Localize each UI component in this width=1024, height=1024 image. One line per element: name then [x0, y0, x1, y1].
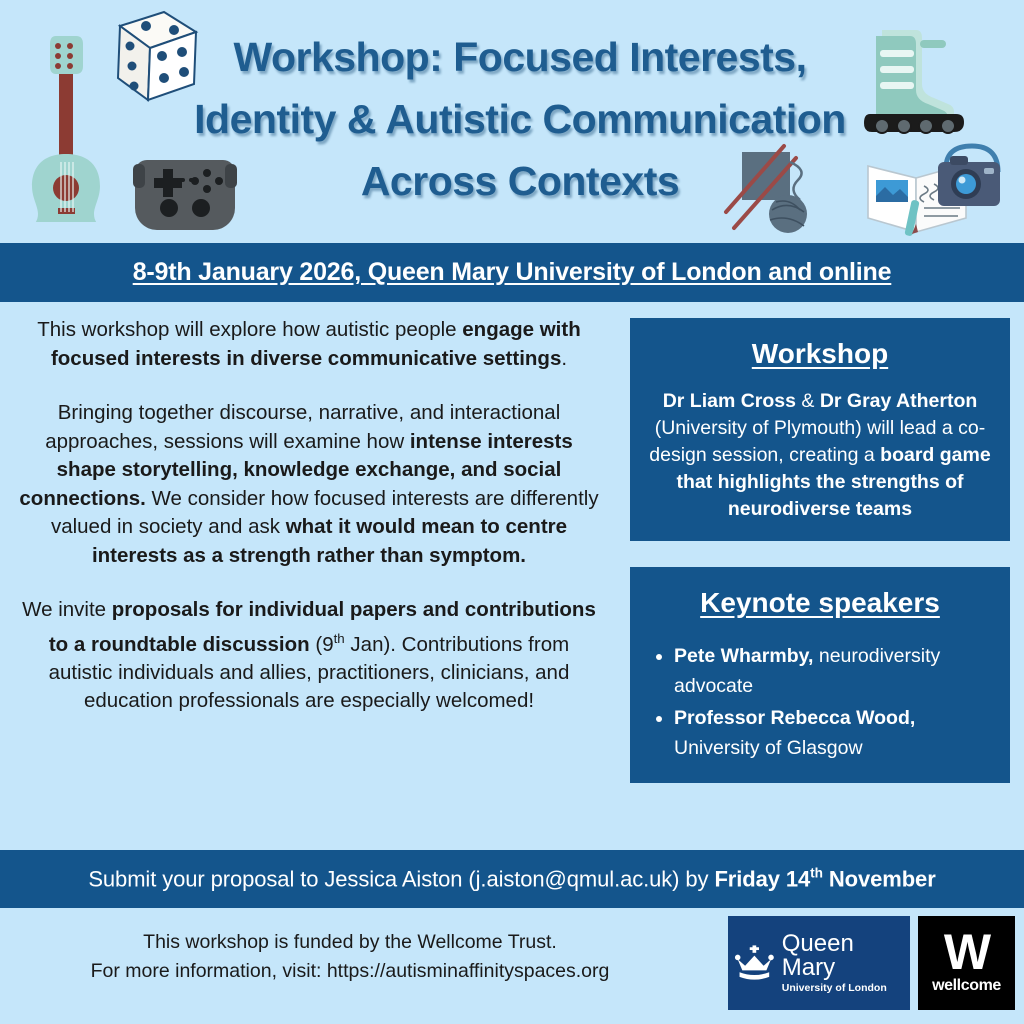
queen-mary-name: Queen Mary: [782, 932, 904, 980]
poster-title: Workshop: Focused Interests, Identity & …: [140, 26, 900, 212]
speaker-name: Professor Rebecca Wood,: [674, 707, 915, 729]
list-item: Pete Wharmby, neurodiversity advocate: [674, 641, 994, 701]
funding-note: This workshop is funded by the Wellcome …: [40, 928, 660, 986]
crown-icon: [734, 943, 775, 983]
funding-line-1: This workshop is funded by the Wellcome …: [40, 928, 660, 957]
wellcome-w-mark: W: [944, 932, 989, 973]
list-item: Professor Rebecca Wood, University of Gl…: [674, 703, 994, 763]
poster-footer: This workshop is funded by the Wellcome …: [0, 908, 1024, 1024]
logo-row: Queen Mary University of London W wellco…: [728, 916, 1015, 1010]
date-venue-text: 8-9th January 2026, Queen Mary Universit…: [133, 258, 892, 287]
poster-header: Workshop: Focused Interests, Identity & …: [0, 0, 1024, 243]
paragraph-scope: Bringing together discourse, narrative, …: [16, 399, 602, 570]
poster-main: This workshop will explore how autistic …: [0, 302, 1024, 850]
keynote-speaker-list: Pete Wharmby, neurodiversity advocate Pr…: [646, 641, 994, 763]
queen-mary-subtitle: University of London: [782, 983, 904, 994]
camera-icon: [928, 138, 1018, 218]
title-line-2: Identity & Autistic Communication: [140, 88, 900, 150]
title-line-1: Workshop: Focused Interests,: [140, 26, 900, 88]
workshop-box-title: Workshop: [646, 338, 994, 370]
paragraph-intro: This workshop will explore how autistic …: [16, 316, 602, 373]
wellcome-logo: W wellcome: [918, 916, 1015, 1010]
submission-banner: Submit your proposal to Jessica Aiston (…: [0, 850, 1024, 908]
keynote-box: Keynote speakers Pete Wharmby, neurodive…: [630, 567, 1010, 783]
workshop-box-body: Dr Liam Cross & Dr Gray Atherton (Univer…: [646, 388, 994, 523]
date-venue-banner: 8-9th January 2026, Queen Mary Universit…: [0, 243, 1024, 302]
wellcome-wordmark: wellcome: [932, 977, 1001, 995]
submission-text: Submit your proposal to Jessica Aiston (…: [88, 866, 935, 892]
info-column: Workshop Dr Liam Cross & Dr Gray Atherto…: [618, 302, 1024, 850]
speaker-name: Pete Wharmby,: [674, 645, 813, 667]
speaker-affiliation: University of Glasgow: [674, 737, 863, 759]
paragraph-call-for-papers: We invite proposals for individual paper…: [16, 596, 602, 716]
queen-mary-wordmark: Queen Mary University of London: [782, 932, 904, 994]
title-line-3: Across Contexts: [140, 150, 900, 212]
workshop-box: Workshop Dr Liam Cross & Dr Gray Atherto…: [630, 318, 1010, 541]
funding-line-2: For more information, visit: https://aut…: [40, 957, 660, 986]
description-column: This workshop will explore how autistic …: [0, 302, 618, 850]
queen-mary-logo: Queen Mary University of London: [728, 916, 910, 1010]
keynote-box-title: Keynote speakers: [646, 587, 994, 619]
